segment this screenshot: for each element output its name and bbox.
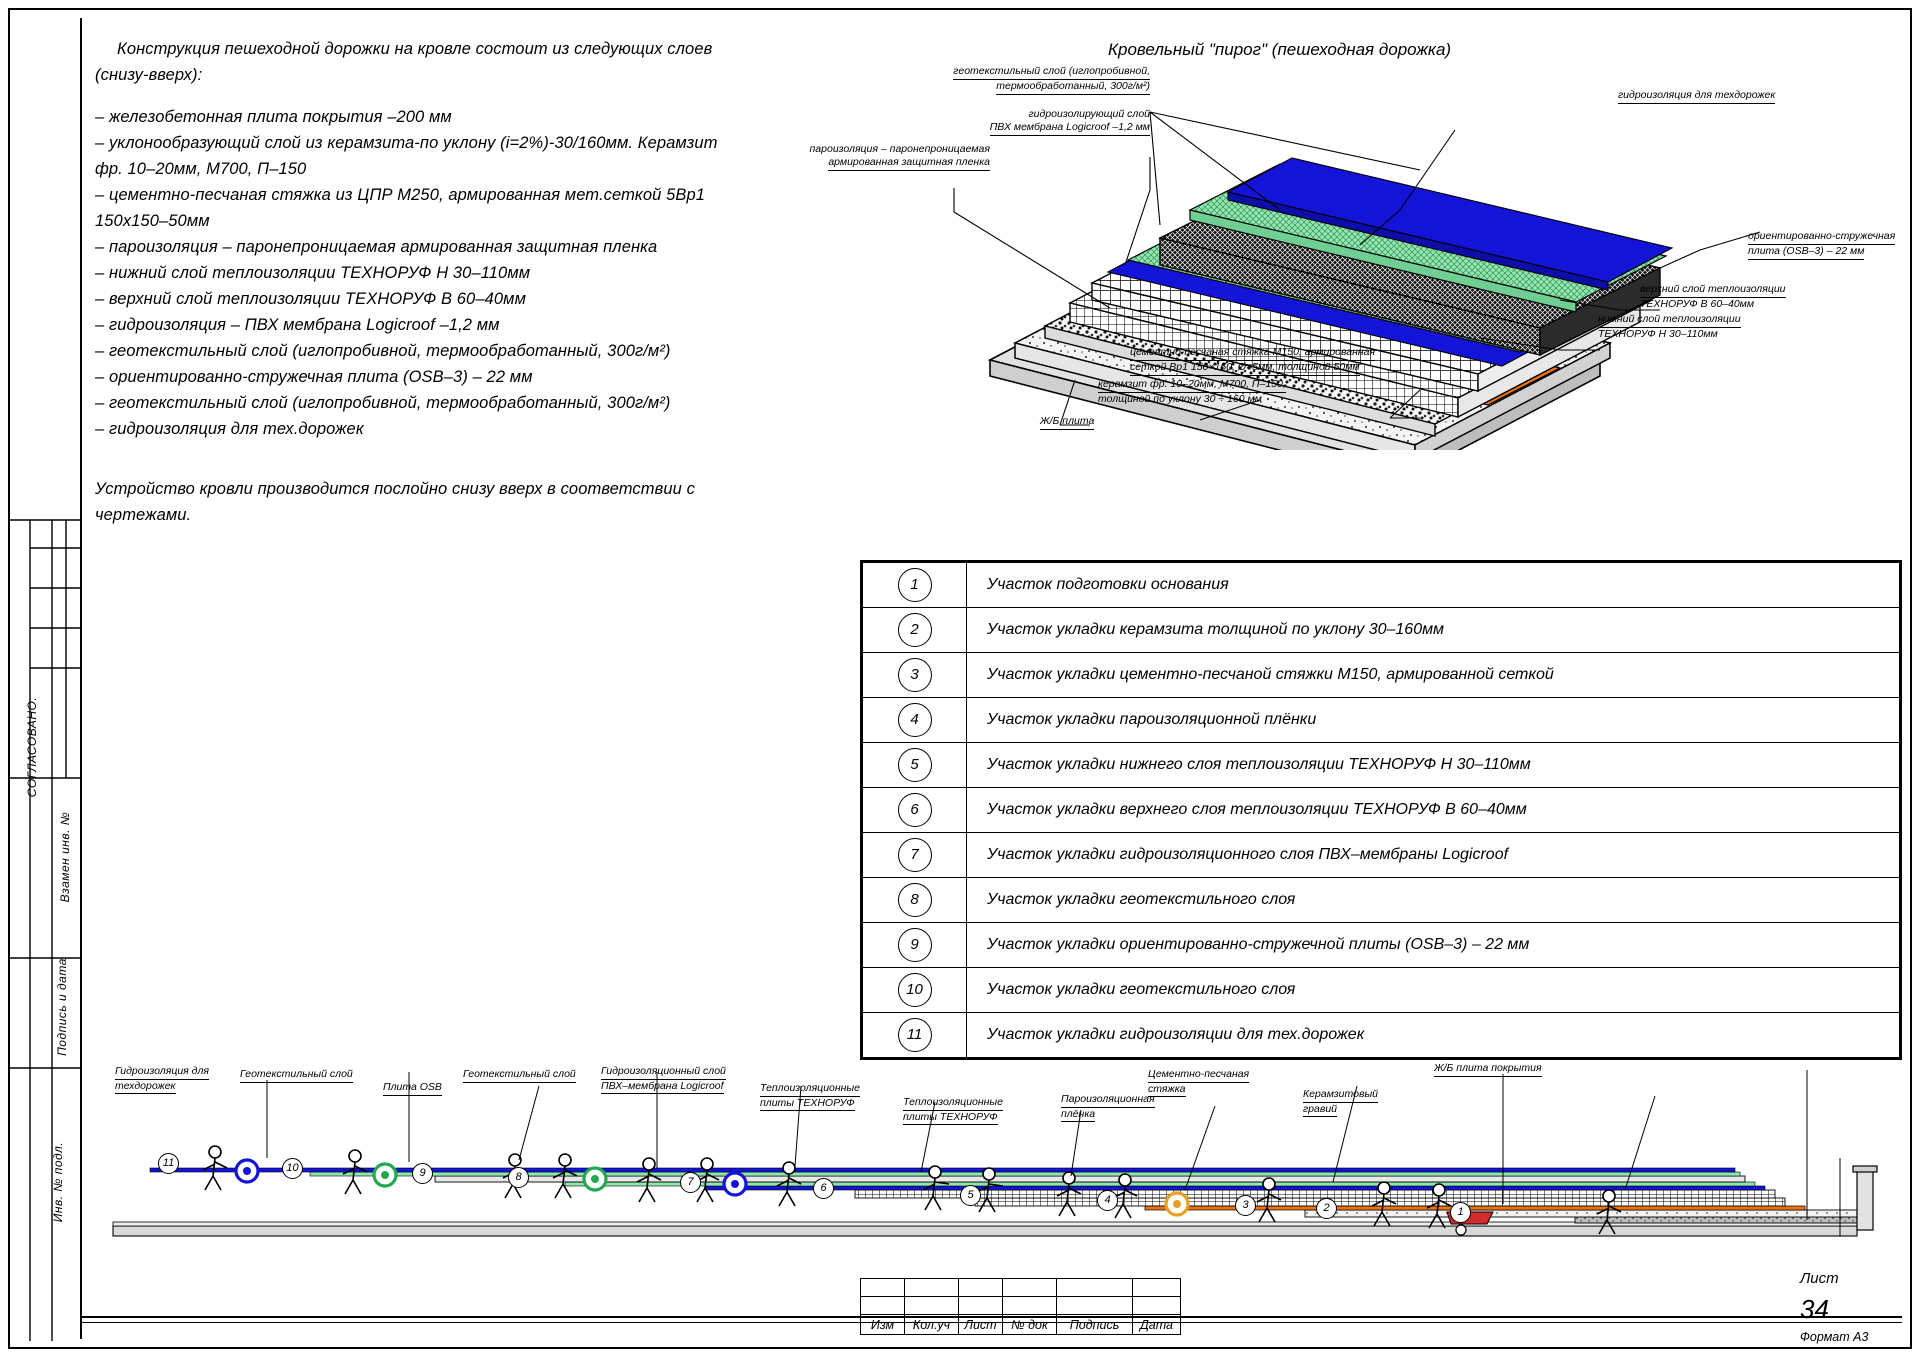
legend-row: 9Участок укладки ориентированно-стружечн… — [863, 923, 1900, 968]
legend-row-description: Участок укладки гидроизоляционного слоя … — [967, 833, 1900, 878]
callout-techpath-text: гидроизоляция для техдорожек — [1618, 89, 1775, 104]
strip-num-9: 9 — [412, 1163, 433, 1184]
legend-row-number-cell: 1 — [863, 563, 967, 608]
strip-label-11-line1: Гидроизоляция для — [115, 1065, 209, 1080]
legend-row: 8Участок укладки геотекстильного слоя — [863, 878, 1900, 923]
strip-label-10: Геотекстильный слой — [240, 1068, 353, 1083]
legend-row-number-cell: 10 — [863, 968, 967, 1013]
strip-num-5: 5 — [960, 1185, 981, 1206]
callout-rc-slab-text: Ж/Б плита — [1040, 415, 1094, 430]
callout-vapour-barrier: пароизоляция – паронепроницаемая армиров… — [720, 143, 990, 171]
notes-layer-11: – геотекстильный слой (иглопробивной, те… — [95, 390, 815, 416]
callout-vapour-line1: пароизоляция – паронепроницаемая — [810, 143, 990, 155]
construction-sequence-strip — [95, 1040, 1905, 1270]
legend-row-description: Участок укладки цементно-песчаной стяжки… — [967, 653, 1900, 698]
legend-circled-number: 4 — [898, 703, 932, 737]
notes-layer-5: – пароизоляция – паронепроницаемая армир… — [95, 234, 815, 260]
strip-label-3-line2: стяжка — [1148, 1083, 1186, 1098]
iso-diagram-title: Кровельный "пирог" (пешеходная дорожка) — [1108, 40, 1451, 60]
strip-label-9-line1: Плита OSB — [383, 1081, 442, 1096]
strip-num-4: 4 — [1097, 1190, 1118, 1211]
strip-label-1-line1: Керамзитовый — [1303, 1088, 1378, 1103]
legend-circled-number: 6 — [898, 793, 932, 827]
legend-row-description: Участок укладки нижнего слоя теплоизоляц… — [967, 743, 1900, 788]
legend-row-number-cell: 6 — [863, 788, 967, 833]
notes-layer-12: – гидроизоляция для тех.дорожек — [95, 416, 815, 442]
strip-num-7: 7 — [680, 1172, 701, 1193]
notes-layer-1: – уклонообразующий слой из керамзита-по … — [95, 130, 815, 156]
strip-label-5-line1: Теплоизоляционные — [903, 1096, 1003, 1111]
strip-num-1: 1 — [1450, 1202, 1471, 1223]
notes-footer-line2: чертежами. — [95, 502, 815, 528]
callout-lower-insulation: нижний слой теплоизоляции ТЕХНОРУФ Н 30–… — [1598, 313, 1741, 341]
title-block-rule-1 — [80, 1316, 1902, 1318]
callout-upper-insul-line1: верхний слой теплоизоляции — [1640, 283, 1786, 298]
legend-row: 7Участок укладки гидроизоляционного слоя… — [863, 833, 1900, 878]
callout-osb-line1: ориентированно-стружечная — [1748, 230, 1895, 245]
legend-circled-number: 9 — [898, 928, 932, 962]
strip-label-11: Гидроизоляция для техдорожек — [115, 1065, 209, 1094]
strip-label-7: Гидроизоляционный слой ПВХ–мембрана Logi… — [601, 1065, 726, 1094]
callout-waterproofing-line1: гидроизолирующий слой — [1029, 108, 1151, 120]
legend-circled-number: 1 — [898, 568, 932, 602]
strip-label-slab: Ж/Б плита покрытия — [1434, 1062, 1542, 1077]
callout-screed-line2: сеткой Вр1 150×150, Ø=5мм, толщиной 50мм — [1130, 361, 1360, 376]
legend-row-number-cell: 5 — [863, 743, 967, 788]
strip-label-3-line1: Цементно-песчаная — [1148, 1068, 1249, 1083]
callout-vapour-line2: армированная защитная пленка — [828, 156, 990, 171]
callout-keramzit-line2: толщиной по уклону 30 ÷ 160 мм — [1098, 393, 1262, 405]
notes-layer-0: – железобетонная плита покрытия –200 мм — [95, 104, 815, 130]
sheet-number: 34 — [1800, 1294, 1829, 1325]
callout-rc-slab: Ж/Б плита — [1040, 415, 1094, 430]
strip-num-11: 11 — [158, 1153, 179, 1174]
strip-num-8: 8 — [508, 1167, 529, 1188]
title-block-blank-row-2 — [861, 1297, 1181, 1315]
notes-layer-7: – верхний слой теплоизоляции ТЕХНОРУФ В … — [95, 286, 815, 312]
strip-label-4-line2: плёнка — [1061, 1108, 1095, 1123]
notes-layer-8: – гидроизоляция – ПВХ мембрана Logicroof… — [95, 312, 815, 338]
strip-label-9: Плита OSB — [383, 1081, 442, 1096]
label-vzamen-inv: Взамен инв. № — [58, 782, 72, 932]
legend-row-number-cell: 4 — [863, 698, 967, 743]
legend-row-description: Участок подготовки основания — [967, 563, 1900, 608]
strip-num-2: 2 — [1316, 1198, 1337, 1219]
legend-row-number-cell: 8 — [863, 878, 967, 923]
strip-label-6-line2: плиты ТЕХНОРУФ — [760, 1097, 855, 1112]
callout-upper-insul-line2: ТЕХНОРУФ В 60–40мм — [1640, 298, 1754, 310]
notes-layer-3: – цементно-песчаная стяжка из ЦПР М250, … — [95, 182, 815, 208]
legend-circled-number: 3 — [898, 658, 932, 692]
strip-label-8-line1: Геотекстильный слой — [463, 1068, 576, 1083]
legend-row-description: Участок укладки верхнего слоя теплоизоля… — [967, 788, 1900, 833]
strip-label-5: Теплоизоляционные плиты ТЕХНОРУФ — [903, 1096, 1003, 1125]
strip-label-1: Керамзитовый гравий — [1303, 1088, 1378, 1117]
legend-circled-number: 5 — [898, 748, 932, 782]
callout-lower-insul-line2: ТЕХНОРУФ Н 30–110мм — [1598, 328, 1718, 340]
legend-row-description: Участок укладки керамзита толщиной по ук… — [967, 608, 1900, 653]
callout-keramzit: керамзит фр. 10–20мм, М700, П–150, толщи… — [1098, 378, 1286, 406]
strip-num-3: 3 — [1235, 1195, 1256, 1216]
legend-row-number-cell: 3 — [863, 653, 967, 698]
legend-row: 6Участок укладки верхнего слоя теплоизол… — [863, 788, 1900, 833]
callout-osb-line2: плита (OSB–3) – 22 мм — [1748, 245, 1864, 260]
notes-layer-2: фр. 10–20мм, М700, П–150 — [95, 156, 815, 182]
legend-row-description: Участок укладки пароизоляционной плёнки — [967, 698, 1900, 743]
notes-intro-line1: Конструкция пешеходной дорожки на кровле… — [95, 36, 815, 62]
callout-waterproofing-layer: гидроизолирующий слой ПВХ мембрана Logic… — [880, 108, 1150, 136]
notes-layer-9: – геотекстильный слой (иглопробивной, те… — [95, 338, 815, 364]
notes-layer-10: – ориентированно-стружечная плита (OSB–3… — [95, 364, 815, 390]
callout-lower-insul-line1: нижний слой теплоизоляции — [1598, 313, 1741, 328]
legend-row-number-cell: 7 — [863, 833, 967, 878]
notes-footer-line1: Устройство кровли производится послойно … — [95, 476, 815, 502]
callout-geotextile-top-line1: геотекстильный слой (иглопробивной, — [953, 65, 1150, 80]
label-inv-podl: Инв. № подл. — [51, 1102, 65, 1262]
strip-label-5-line2: плиты ТЕХНОРУФ — [903, 1111, 998, 1126]
strip-label-1-line2: гравий — [1303, 1103, 1337, 1118]
strip-num-10: 10 — [282, 1158, 303, 1179]
strip-label-3: Цементно-песчаная стяжка — [1148, 1068, 1249, 1097]
legend-row: 4Участок укладки пароизоляционной плёнки — [863, 698, 1900, 743]
drawing-sheet: СОГЛАСОВАНО: Взамен инв. № Подпись и дат… — [0, 0, 1920, 1357]
legend-circled-number: 8 — [898, 883, 932, 917]
sheet-label: Лист — [1800, 1270, 1839, 1287]
callout-keramzit-line1: керамзит фр. 10–20мм, М700, П–150, — [1098, 378, 1286, 393]
callout-waterproofing-line2: ПВХ мембрана Logicroof –1,2 мм — [990, 121, 1150, 136]
callout-geotextile-top-line2: термообработанный, 300г/м²) — [996, 80, 1150, 95]
legend-row: 5Участок укладки нижнего слоя теплоизоля… — [863, 743, 1900, 788]
title-block-blank-row-1 — [861, 1279, 1181, 1297]
label-podpis-data: Подпись и дата — [55, 927, 69, 1087]
strip-label-slab-text: Ж/Б плита покрытия — [1434, 1062, 1542, 1077]
strip-label-11-line2: техдорожек — [115, 1080, 176, 1095]
legend-row-number-cell: 9 — [863, 923, 967, 968]
legend-row: 2Участок укладки керамзита толщиной по у… — [863, 608, 1900, 653]
title-block: Изм Кол.уч Лист № док Подпись Дата — [860, 1278, 1181, 1335]
strip-num-6: 6 — [813, 1178, 834, 1199]
title-block-rule-2 — [80, 1322, 1902, 1323]
legend-row: 10Участок укладки геотекстильного слоя — [863, 968, 1900, 1013]
legend-circled-number: 2 — [898, 613, 932, 647]
callout-upper-insulation: верхний слой теплоизоляции ТЕХНОРУФ В 60… — [1640, 283, 1786, 311]
notes-text-block: Конструкция пешеходной дорожки на кровле… — [95, 36, 815, 528]
legend-row-description: Участок укладки ориентированно-стружечно… — [967, 923, 1900, 968]
legend-table: 1Участок подготовки основания2Участок ук… — [860, 560, 1902, 1060]
callout-geotextile-top: геотекстильный слой (иглопробивной, терм… — [880, 65, 1150, 95]
strip-label-7-line1: Гидроизоляционный слой — [601, 1065, 726, 1080]
strip-label-4-line1: Пароизоляционная — [1061, 1093, 1155, 1108]
strip-label-7-line2: ПВХ–мембрана Logicroof — [601, 1080, 724, 1095]
notes-intro-line2: (снизу-вверх): — [95, 62, 815, 88]
notes-layer-4: 150х150–50мм — [95, 208, 815, 234]
callout-screed-line1: цементно-песчаная стяжка М150, армирован… — [1130, 346, 1375, 361]
callout-osb: ориентированно-стружечная плита (OSB–3) … — [1748, 230, 1895, 260]
legend-row-description: Участок укладки геотекстильного слоя — [967, 968, 1900, 1013]
label-soglasovano: СОГЛАСОВАНО: — [25, 677, 39, 817]
strip-label-8: Геотекстильный слой — [463, 1068, 576, 1083]
format-label: Формат А3 — [1800, 1330, 1868, 1344]
legend-row-description: Участок укладки геотекстильного слоя — [967, 878, 1900, 923]
legend-row-number-cell: 2 — [863, 608, 967, 653]
callout-screed: цементно-песчаная стяжка М150, армирован… — [1130, 346, 1375, 376]
strip-label-6: Теплоизоляционные плиты ТЕХНОРУФ — [760, 1082, 860, 1111]
legend-row: 3Участок укладки цементно-песчаной стяжк… — [863, 653, 1900, 698]
strip-label-6-line1: Теплоизоляционные — [760, 1082, 860, 1097]
notes-layer-6: – нижний слой теплоизоляции ТЕХНОРУФ Н 3… — [95, 260, 815, 286]
strip-label-10-line1: Геотекстильный слой — [240, 1068, 353, 1083]
legend-row: 1Участок подготовки основания — [863, 563, 1900, 608]
callout-techpath-waterproofing: гидроизоляция для техдорожек — [1618, 89, 1775, 104]
legend-circled-number: 7 — [898, 838, 932, 872]
strip-label-4: Пароизоляционная плёнка — [1061, 1093, 1155, 1122]
legend-circled-number: 10 — [898, 973, 932, 1007]
